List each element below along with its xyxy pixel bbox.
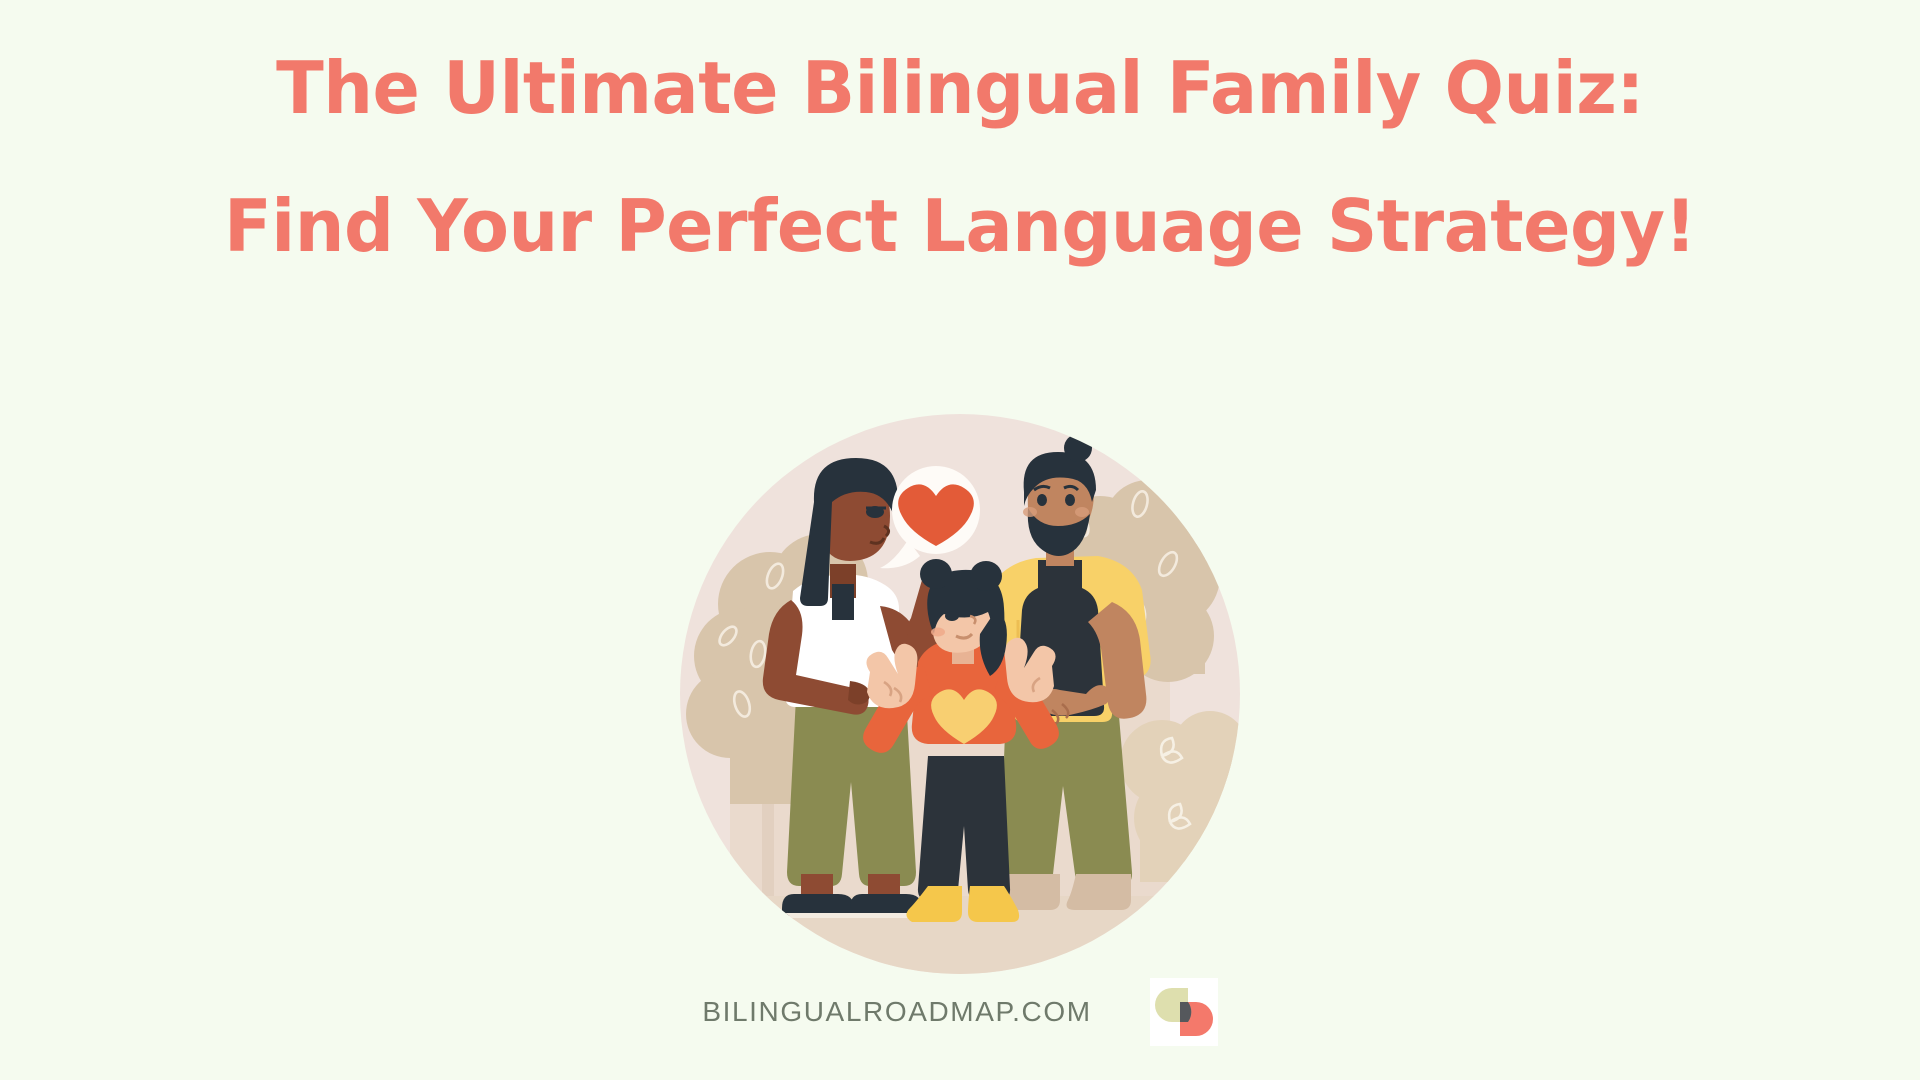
bilingual-roadmap-logo: [1150, 978, 1218, 1046]
page-title: The Ultimate Bilingual Family Quiz: Find…: [0, 52, 1920, 262]
title-line-2: Find Your Perfect Language Strategy!: [145, 190, 1775, 262]
poster-canvas: The Ultimate Bilingual Family Quiz: Find…: [0, 0, 1920, 1080]
site-url: BILINGUALROADMAP.COM: [702, 996, 1091, 1028]
title-line-1: The Ultimate Bilingual Family Quiz:: [145, 52, 1775, 124]
bilingual-family-illustration: [670, 404, 1250, 984]
footer: BILINGUALROADMAP.COM: [0, 978, 1920, 1046]
